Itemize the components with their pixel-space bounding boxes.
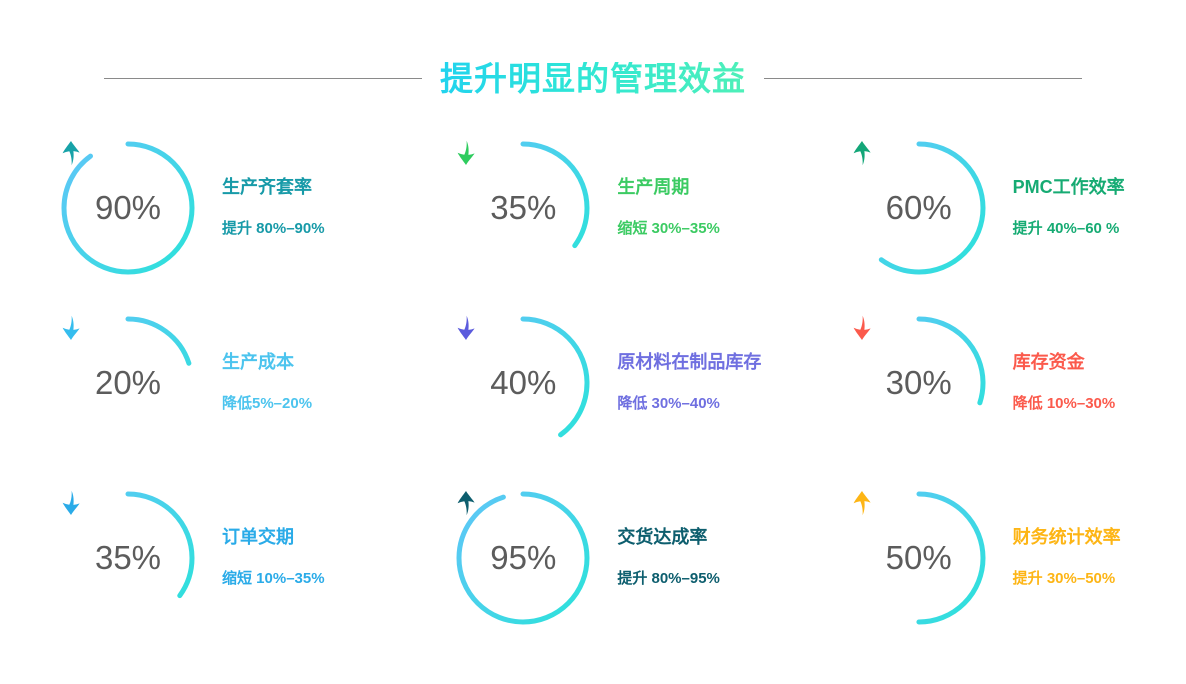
arrow-down-icon [453,140,479,166]
arrow-down-icon [849,315,875,341]
kpi-info: 原材料在制品库存降低 30%–40% [617,352,761,414]
progress-ring: 20% [58,313,198,453]
kpi-cell: 50%财务统计效率提升 30%–50% [791,470,1186,645]
arrow-down-icon [58,315,84,341]
percent-value: 20% [95,366,161,399]
kpi-label: PMC工作效率 [1013,177,1125,199]
kpi-cell: 35%订单交期缩短 10%–35% [0,470,395,645]
progress-ring: 60% [849,138,989,278]
kpi-delta: 降低 30%–40% [617,395,720,413]
ring-center: 30% [849,313,989,453]
kpi-delta: 降低 10%–30% [1013,395,1116,413]
ring-center: 60% [849,138,989,278]
kpi-label: 生产周期 [617,177,689,199]
kpi-cell: 60%PMC工作效率提升 40%–60 % [791,120,1186,295]
kpi-label: 库存资金 [1013,352,1085,374]
kpi-delta: 降低5%–20% [222,395,312,413]
arrow-up-icon [849,140,875,166]
ring-center: 40% [453,313,593,453]
header-rule-left [104,78,422,79]
percent-value: 40% [490,366,556,399]
percent-value: 60% [886,191,952,224]
ring-center: 50% [849,488,989,628]
percent-value: 35% [490,191,556,224]
kpi-cell: 40%原材料在制品库存降低 30%–40% [395,295,790,470]
kpi-label: 财务统计效率 [1013,527,1121,549]
kpi-delta: 缩短 10%–35% [222,570,325,588]
kpi-info: 订单交期缩短 10%–35% [222,527,325,589]
kpi-label: 生产齐套率 [222,177,312,199]
ring-center: 95% [453,488,593,628]
arrow-up-icon [58,140,84,166]
kpi-delta: 缩短 30%–35% [617,220,720,238]
arrow-up-icon [849,490,875,516]
kpi-info: 库存资金降低 10%–30% [1013,352,1116,414]
progress-ring: 40% [453,313,593,453]
ring-center: 20% [58,313,198,453]
percent-value: 90% [95,191,161,224]
percent-value: 95% [490,541,556,574]
progress-ring: 90% [58,138,198,278]
arrow-up-icon [453,490,479,516]
kpi-info: 生产周期缩短 30%–35% [617,177,720,239]
page-title: 提升明显的管理效益 [440,62,746,95]
kpi-label: 生产成本 [222,352,294,374]
progress-ring: 35% [58,488,198,628]
percent-value: 30% [886,366,952,399]
ring-center: 90% [58,138,198,278]
kpi-info: 财务统计效率提升 30%–50% [1013,527,1121,589]
arrow-down-icon [453,315,479,341]
kpi-info: PMC工作效率提升 40%–60 % [1013,177,1125,239]
kpi-info: 生产齐套率提升 80%–90% [222,177,325,239]
ring-center: 35% [58,488,198,628]
kpi-cell: 95%交货达成率提升 80%–95% [395,470,790,645]
kpi-info: 交货达成率提升 80%–95% [617,527,720,589]
kpi-label: 交货达成率 [617,527,707,549]
arrow-down-icon [58,490,84,516]
kpi-cell: 20%生产成本降低5%–20% [0,295,395,470]
page-header: 提升明显的管理效益 [0,52,1186,104]
progress-ring: 50% [849,488,989,628]
kpi-label: 原材料在制品库存 [617,352,761,374]
kpi-delta: 提升 80%–95% [617,570,720,588]
percent-value: 50% [886,541,952,574]
header-rule-right [764,78,1082,79]
ring-center: 35% [453,138,593,278]
kpi-cell: 35%生产周期缩短 30%–35% [395,120,790,295]
kpi-cell: 90%生产齐套率提升 80%–90% [0,120,395,295]
kpi-delta: 提升 30%–50% [1013,570,1116,588]
progress-ring: 35% [453,138,593,278]
kpi-cell: 30%库存资金降低 10%–30% [791,295,1186,470]
kpi-delta: 提升 40%–60 % [1013,220,1120,238]
kpi-delta: 提升 80%–90% [222,220,325,238]
progress-ring: 95% [453,488,593,628]
percent-value: 35% [95,541,161,574]
kpi-label: 订单交期 [222,527,294,549]
progress-ring: 30% [849,313,989,453]
kpi-grid: 90%生产齐套率提升 80%–90%35%生产周期缩短 30%–35%60%PM… [0,120,1186,645]
kpi-info: 生产成本降低5%–20% [222,352,312,414]
